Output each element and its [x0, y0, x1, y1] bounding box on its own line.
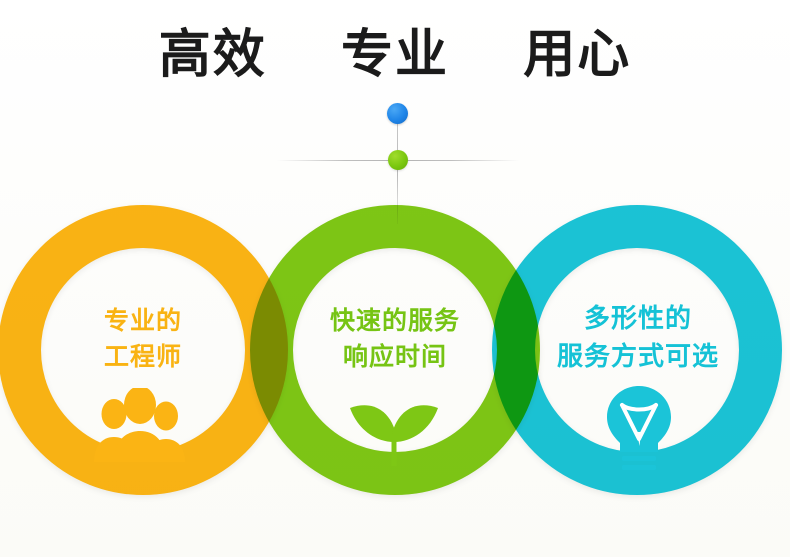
connector-ornament — [0, 100, 790, 220]
circle-label-cyan-line-1: 多形性的 — [520, 300, 756, 338]
lightbulb-icon — [600, 384, 678, 474]
circle-label-orange: 专业的 工程师 — [43, 303, 243, 375]
infographic-canvas: 高效 专业 用心 专业的 工程师 — [0, 0, 790, 557]
circle-label-green-line-2: 响应时间 — [293, 339, 497, 375]
headline-word-2: 专业 — [341, 26, 449, 84]
circle-label-green-line-1: 快速的服务 — [293, 303, 497, 339]
sprout-icon — [332, 386, 456, 470]
circle-label-cyan-line-2: 服务方式可选 — [520, 338, 756, 376]
blue-dot-icon — [387, 103, 408, 124]
green-dot-icon — [388, 150, 408, 170]
headline-word-3: 用心 — [523, 26, 631, 84]
circle-label-cyan: 多形性的 服务方式可选 — [520, 300, 756, 376]
circle-label-orange-line-2: 工程师 — [43, 339, 243, 375]
circle-label-orange-line-1: 专业的 — [43, 303, 243, 339]
circle-label-green: 快速的服务 响应时间 — [293, 303, 497, 375]
horizontal-rule — [277, 160, 519, 161]
people-icon — [92, 388, 188, 466]
headline-word-1: 高效 — [159, 26, 267, 84]
page-title: 高效 专业 用心 — [0, 26, 790, 84]
